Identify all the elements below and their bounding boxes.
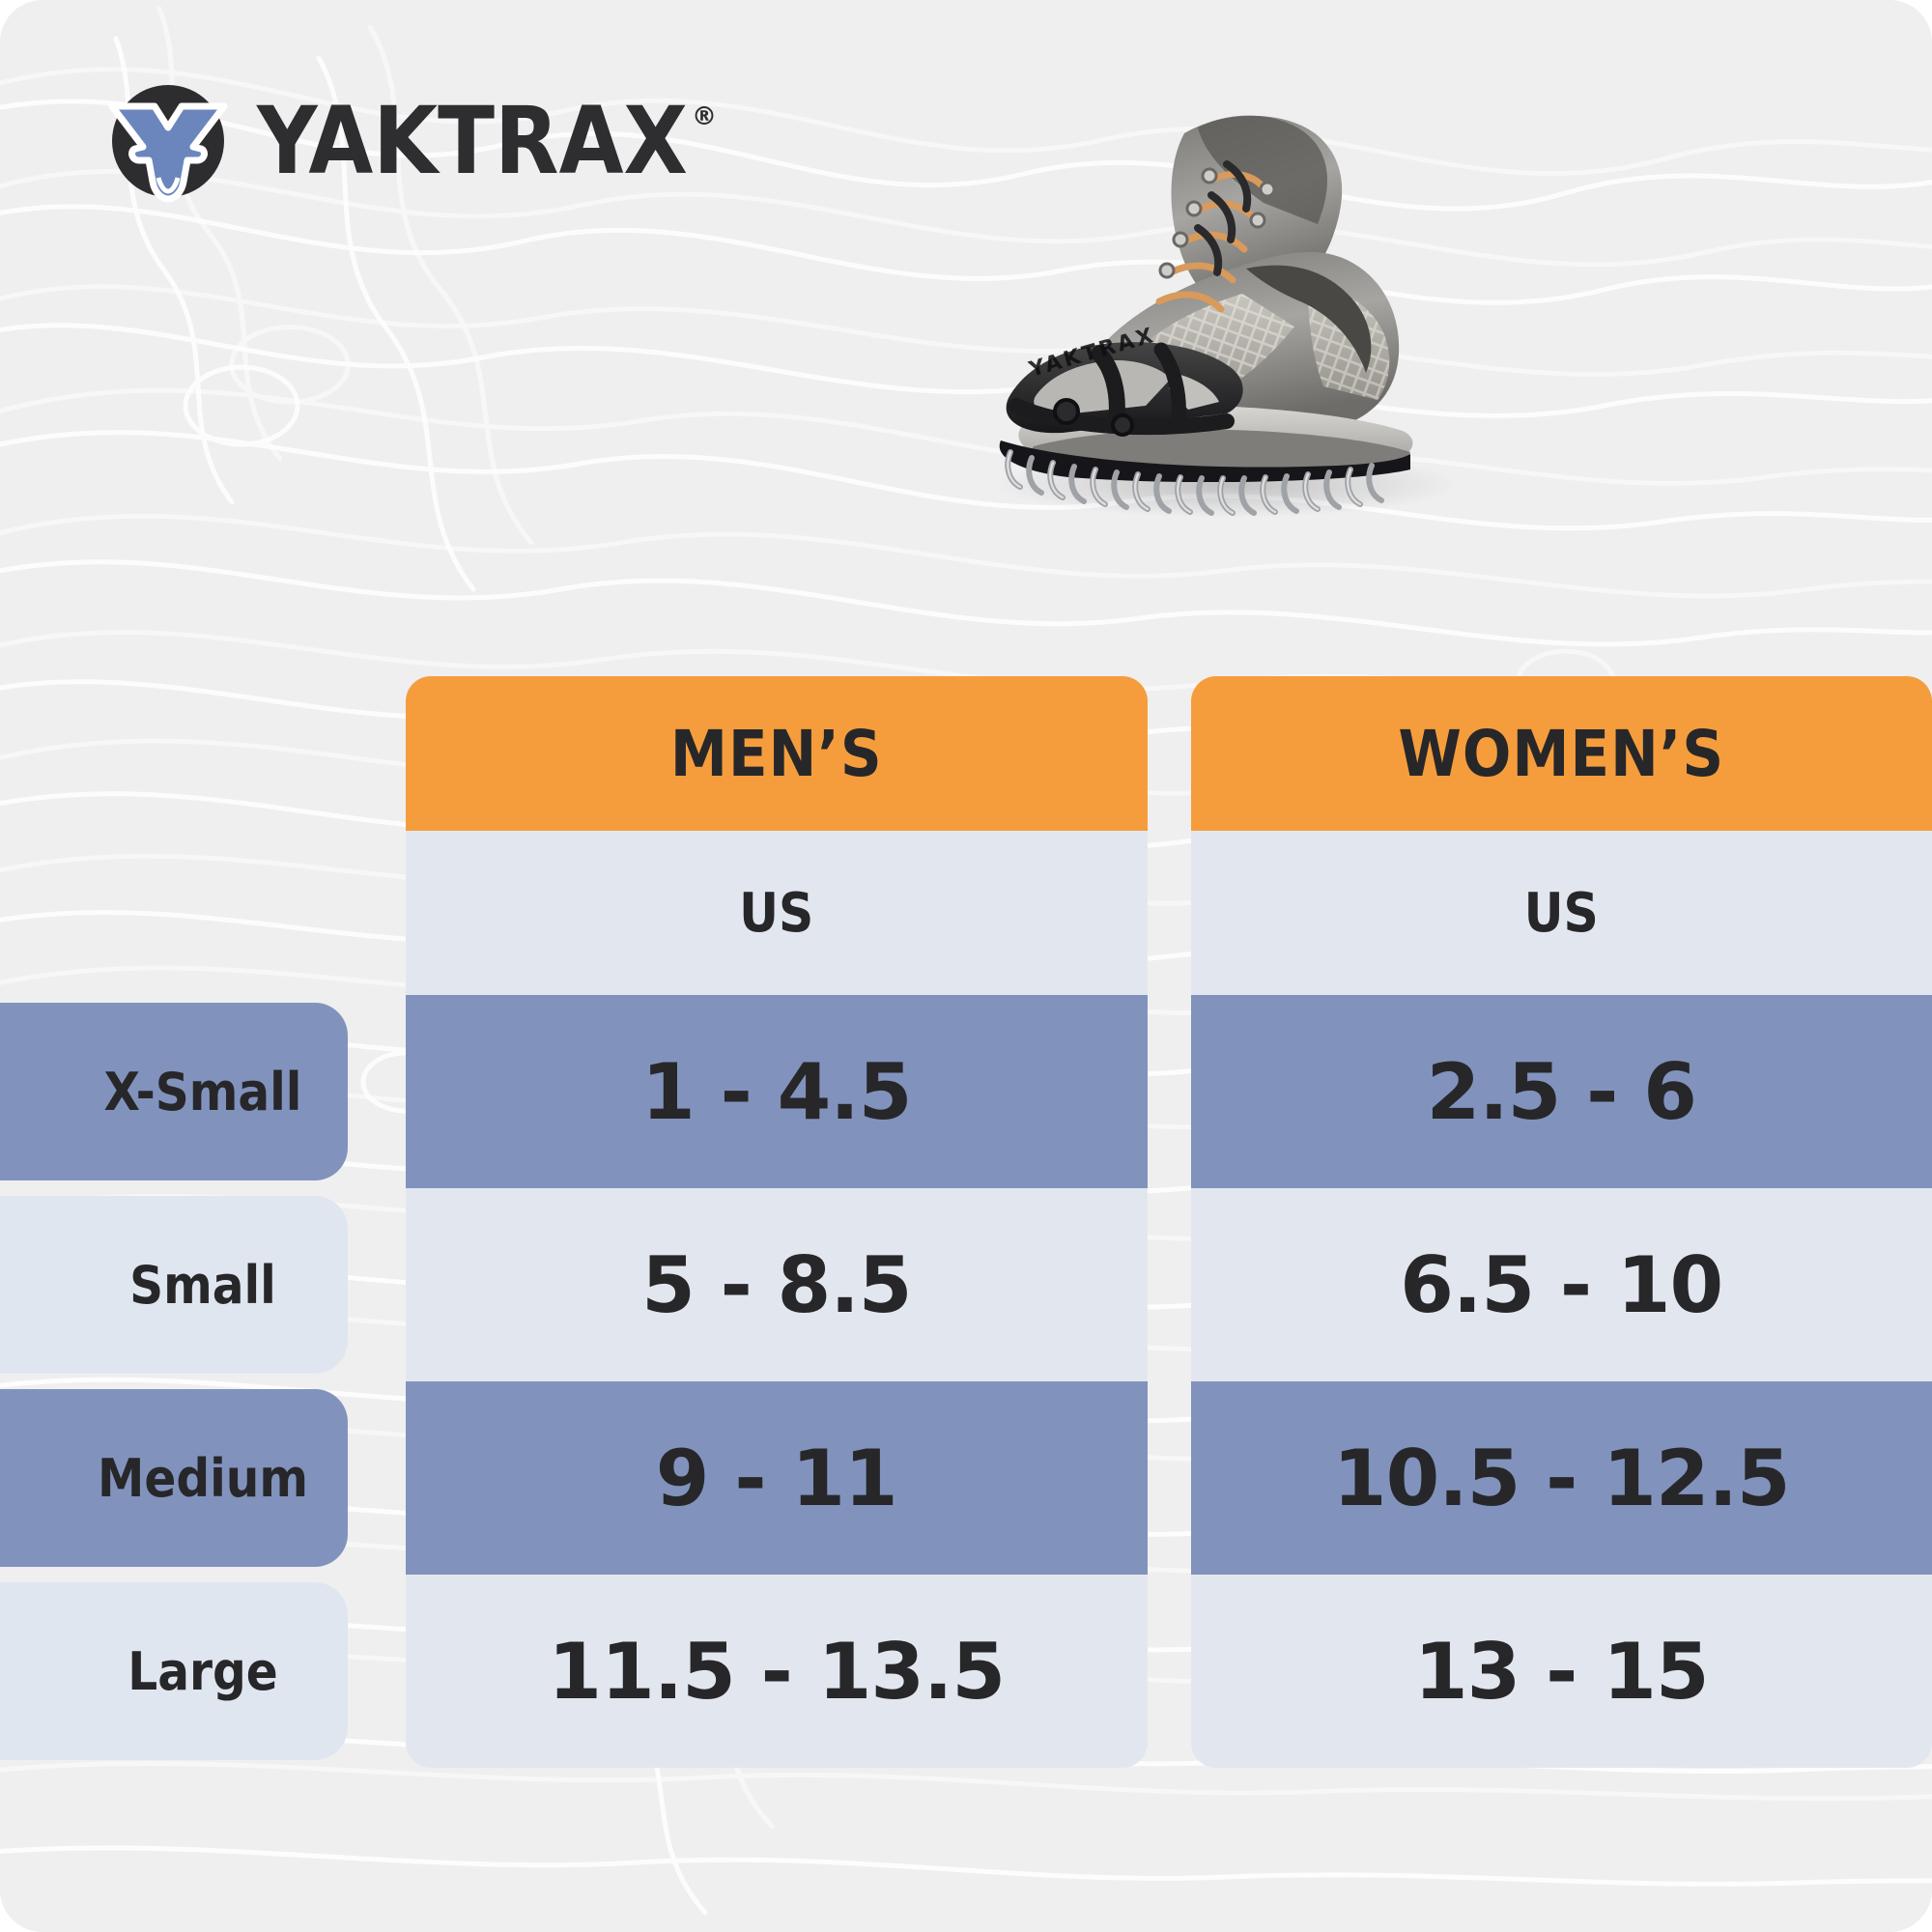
- table-row: Small 5 - 8.5 6.5 - 10: [0, 1188, 1932, 1381]
- table-header-row: MEN’S WOMEN’S: [0, 676, 1932, 831]
- size-label: Small: [129, 1255, 276, 1316]
- mens-size-value: 11.5 - 13.5: [548, 1627, 1005, 1717]
- column-gap: [1148, 1575, 1191, 1768]
- womens-size-value: 2.5 - 6: [1427, 1047, 1696, 1137]
- womens-size-cell: 10.5 - 12.5: [1191, 1381, 1932, 1575]
- size-label-cell: Medium: [0, 1381, 406, 1575]
- table-row: X-Small 1 - 4.5 2.5 - 6: [0, 995, 1932, 1188]
- table-unit-row: US US: [0, 831, 1932, 995]
- table-row: Large 11.5 - 13.5 13 - 15: [0, 1575, 1932, 1768]
- size-label-cell: X-Small: [0, 995, 406, 1188]
- mens-size-cell: 5 - 8.5: [406, 1188, 1148, 1381]
- product-photo: YAKTRAX: [908, 87, 1526, 531]
- size-label-cell: Small: [0, 1188, 406, 1381]
- size-label: X-Small: [104, 1062, 302, 1122]
- unit-womens-label: US: [1524, 882, 1599, 945]
- mens-size-value: 5 - 8.5: [641, 1240, 911, 1330]
- column-header-mens: MEN’S: [406, 676, 1148, 831]
- yak-head-icon: [104, 77, 232, 205]
- column-gap: [1148, 831, 1191, 995]
- registered-trademark-icon: ®: [692, 102, 716, 131]
- brand-wordmark: YAKTRAX ®: [257, 95, 716, 187]
- brand-name: YAKTRAX: [257, 95, 688, 187]
- column-header-womens: WOMEN’S: [1191, 676, 1932, 831]
- column-gap: [1148, 1188, 1191, 1381]
- womens-size-value: 6.5 - 10: [1400, 1240, 1722, 1330]
- unit-mens-label: US: [739, 882, 813, 945]
- column-gap: [1148, 676, 1191, 831]
- column-header-mens-label: MEN’S: [670, 717, 883, 791]
- womens-size-value: 13 - 15: [1414, 1627, 1709, 1717]
- unit-label-spacer: [0, 831, 406, 995]
- unit-cell-womens: US: [1191, 831, 1932, 995]
- column-gap: [1148, 1381, 1191, 1575]
- mens-size-cell: 1 - 4.5: [406, 995, 1148, 1188]
- header-label-spacer: [0, 676, 406, 831]
- womens-size-cell: 2.5 - 6: [1191, 995, 1932, 1188]
- size-label: Large: [128, 1641, 277, 1702]
- size-chart-page: YAKTRAX ®: [0, 0, 1932, 1932]
- mens-size-cell: 11.5 - 13.5: [406, 1575, 1148, 1768]
- column-gap: [1148, 995, 1191, 1188]
- womens-size-value: 10.5 - 12.5: [1333, 1434, 1790, 1523]
- womens-size-cell: 13 - 15: [1191, 1575, 1932, 1768]
- table-row: Medium 9 - 11 10.5 - 12.5: [0, 1381, 1932, 1575]
- mens-size-value: 1 - 4.5: [641, 1047, 911, 1137]
- brand-logo: YAKTRAX ®: [104, 77, 716, 205]
- size-chart-table: MEN’S WOMEN’S US US X-Small 1 - 4: [0, 676, 1932, 1768]
- column-header-womens-label: WOMEN’S: [1398, 717, 1724, 791]
- mens-size-cell: 9 - 11: [406, 1381, 1148, 1575]
- womens-size-cell: 6.5 - 10: [1191, 1188, 1932, 1381]
- mens-size-value: 9 - 11: [656, 1434, 897, 1523]
- unit-cell-mens: US: [406, 831, 1148, 995]
- size-label-cell: Large: [0, 1575, 406, 1768]
- size-label: Medium: [98, 1448, 308, 1509]
